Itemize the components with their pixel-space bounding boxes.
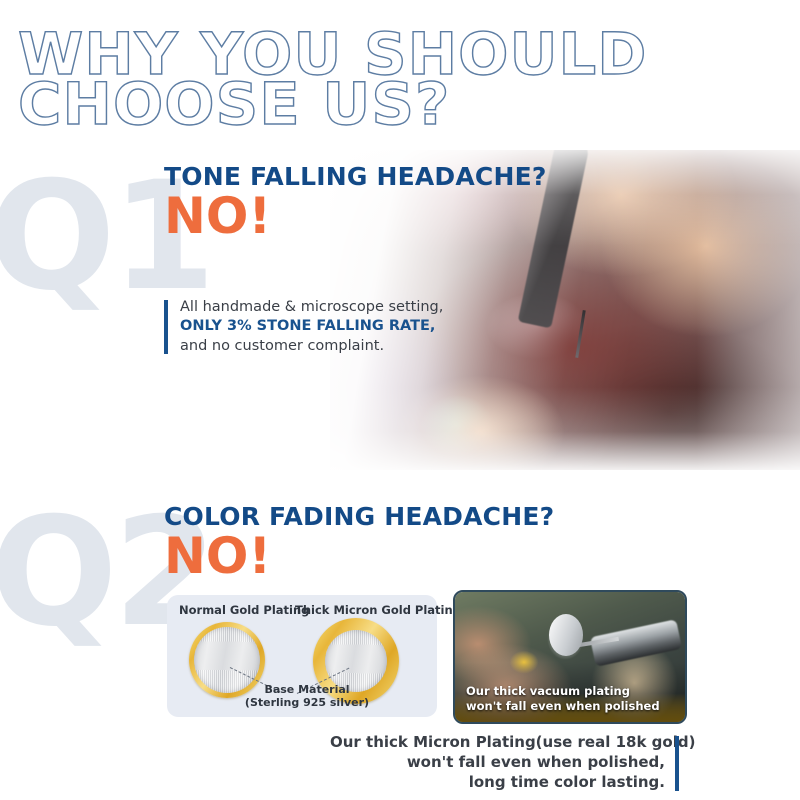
plating-label-thick: Thick Micron Gold Plating (295, 603, 461, 617)
plating-comparison-diagram: Normal Gold Plating Thick Micron Gold Pl… (167, 595, 437, 717)
section-q2: Q2 COLOR FADING HEADACHE? NO! Normal Gol… (0, 490, 800, 800)
base-material-subtitle: (Sterling 925 silver) (227, 696, 387, 709)
base-material-caption: Base Material (Sterling 925 silver) (227, 683, 387, 709)
photo-polishing-card: Our thick vacuum plating won't fall even… (453, 590, 687, 724)
q1-text-column: TONE FALLING HEADACHE? NO! (164, 162, 547, 240)
q1-callout: All handmade & microscope setting, ONLY … (164, 298, 443, 356)
q1-callout-line-1: All handmade & microscope setting, (180, 298, 443, 317)
section-q1: Q1 TONE FALLING HEADACHE? NO! All handma… (0, 150, 800, 480)
q2-closing-line-1: Our thick Micron Plating(use real 18k go… (330, 733, 665, 753)
q2-text-column: COLOR FADING HEADACHE? NO! (164, 502, 554, 580)
photo-polishing-caption: Our thick vacuum plating won't fall even… (466, 684, 660, 713)
q2-closing-line-2: won't fall even when polished, (330, 753, 665, 773)
base-material-title: Base Material (227, 683, 387, 696)
photo-caption-line-1: Our thick vacuum plating (466, 684, 660, 698)
q2-closing-line-3: long time color lasting. (330, 773, 665, 793)
q1-callout-line-2: ONLY 3% STONE FALLING RATE, (180, 317, 443, 336)
photo-caption-line-2: won't fall even when polished (466, 699, 660, 713)
plating-label-normal: Normal Gold Plating (179, 603, 309, 617)
page-title: WHY YOU SHOULD CHOOSE US? (18, 30, 793, 130)
q1-callout-line-3: and no customer complaint. (180, 337, 443, 356)
q2-answer: NO! (164, 533, 554, 580)
q2-closing-statement: Our thick Micron Plating(use real 18k go… (330, 733, 679, 792)
q1-answer: NO! (164, 193, 547, 240)
